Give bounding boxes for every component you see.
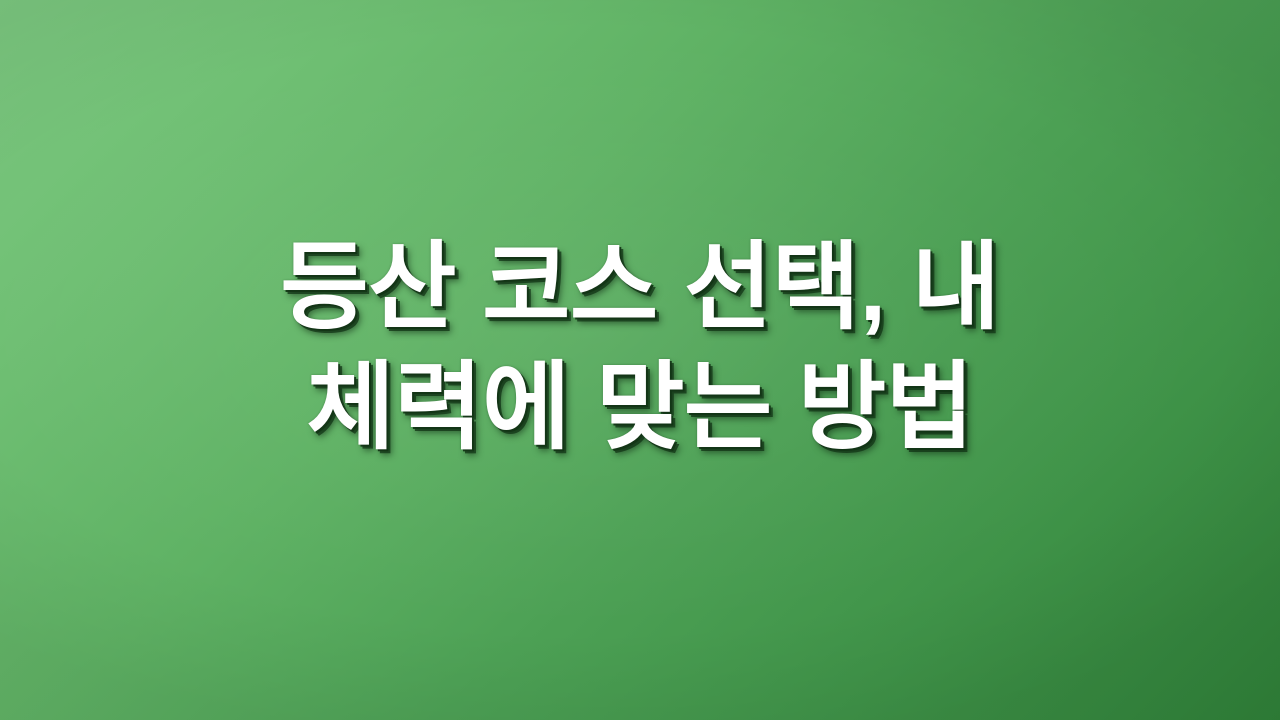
thumbnail-canvas: 등산 코스 선택, 내 체력에 맞는 방법 xyxy=(0,0,1280,720)
title-line-2: 체력에 맞는 방법 xyxy=(90,348,1190,468)
title-line-1: 등산 코스 선택, 내 xyxy=(90,228,1190,348)
title-block: 등산 코스 선택, 내 체력에 맞는 방법 xyxy=(60,228,1220,468)
